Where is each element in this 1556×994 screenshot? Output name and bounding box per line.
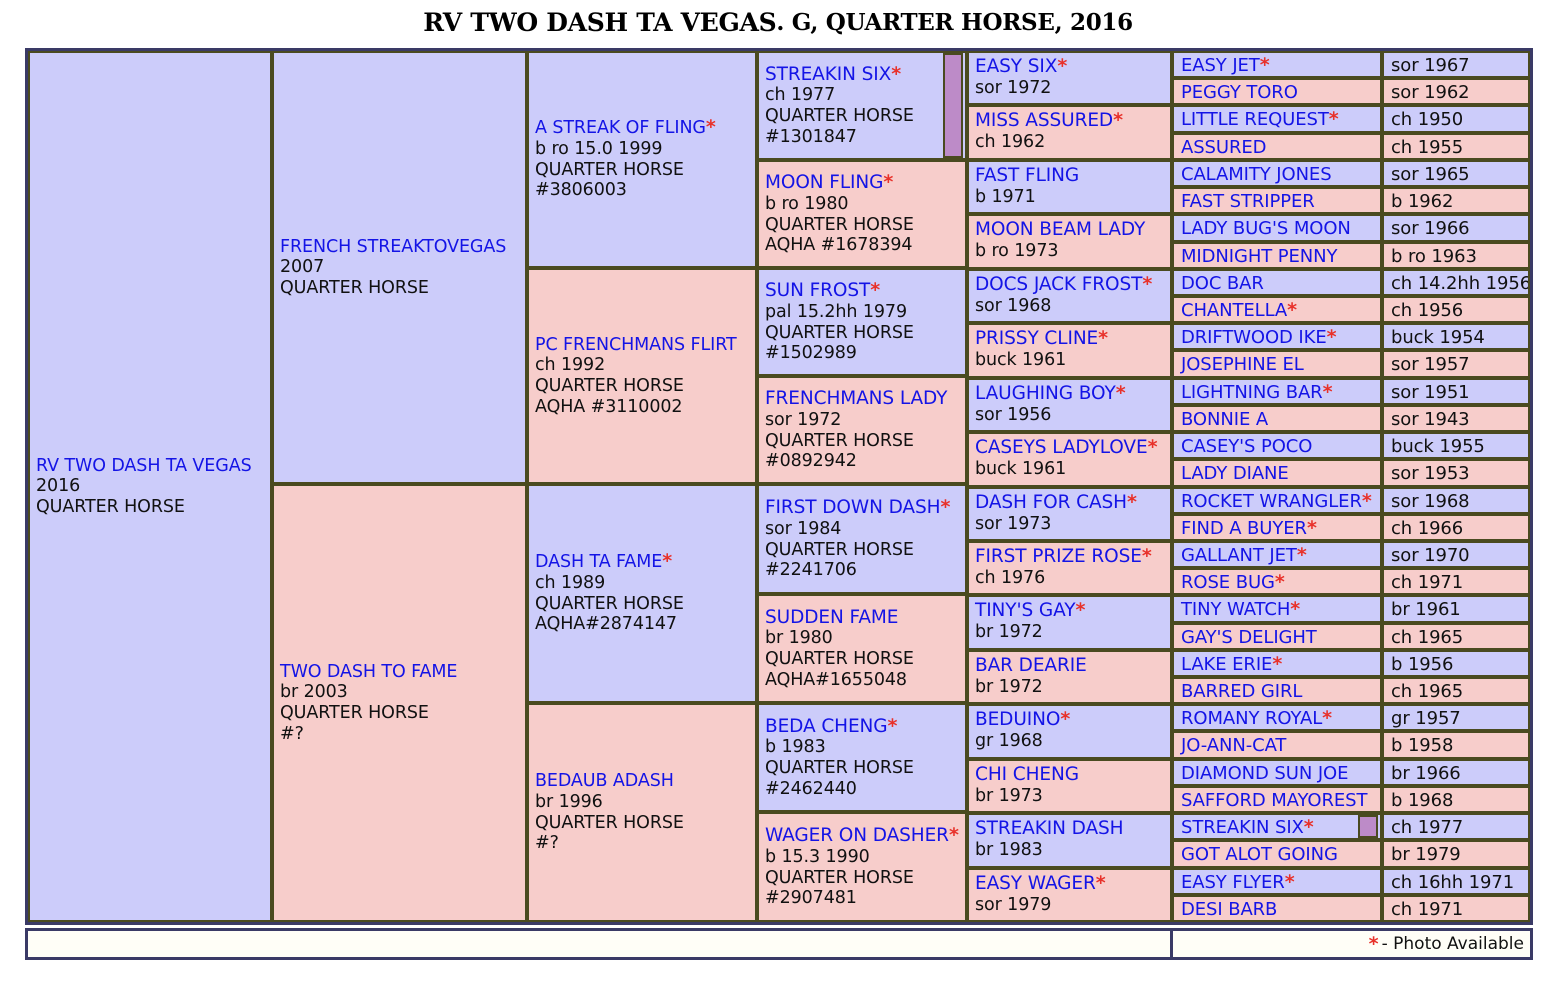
- pedigree-cell-gen6-date[interactable]: b 1968: [1382, 786, 1530, 813]
- horse-name[interactable]: STREAKIN DASH: [975, 818, 1170, 840]
- horse-detail: QUARTER HORSE: [765, 323, 965, 344]
- horse-detail: b ro 15.0 1999: [535, 139, 755, 160]
- duplicate-ancestor-marker: [1358, 815, 1378, 838]
- pedigree-cell-gen6-name[interactable]: SAFFORD MAYOREST: [1172, 786, 1382, 813]
- horse-name[interactable]: MIDNIGHT PENNY: [1181, 246, 1380, 267]
- page-title: RV TWO DASH TA VEGAS . G, QUARTER HORSE,…: [0, 0, 1556, 45]
- photo-available-star-icon: *: [1329, 108, 1339, 130]
- pedigree-cell-gen3[interactable]: DASH TA FAME*ch 1989QUARTER HORSEAQHA#28…: [527, 484, 757, 703]
- horse-name[interactable]: WAGER ON DASHER*: [765, 825, 965, 847]
- horse-detail: sor 1951: [1391, 382, 1528, 403]
- horse-name[interactable]: TINY WATCH*: [1181, 599, 1380, 620]
- photo-available-star-icon: *: [1323, 381, 1333, 403]
- pedigree-cell-gen6-date[interactable]: ch 14.2hh 1956: [1382, 269, 1530, 296]
- horse-detail: QUARTER HORSE: [765, 649, 965, 670]
- photo-legend-label: - Photo Available: [1382, 934, 1524, 954]
- photo-available-star-icon: *: [1362, 490, 1372, 512]
- pedigree-cell-gen5[interactable]: DASH FOR CASH*sor 1973: [967, 487, 1172, 541]
- horse-name[interactable]: SAFFORD MAYOREST: [1181, 790, 1380, 811]
- horse-detail: QUARTER HORSE: [765, 868, 965, 889]
- pedigree-cell-gen5[interactable]: BAR DEARIEbr 1972: [967, 650, 1172, 704]
- photo-available-star-icon: *: [1096, 872, 1106, 894]
- horse-detail: QUARTER HORSE: [765, 758, 965, 779]
- horse-name[interactable]: FIRST DOWN DASH*: [765, 497, 965, 519]
- pedigree-cell-gen6-date[interactable]: ch 1955: [1382, 133, 1530, 160]
- horse-name[interactable]: MISS ASSURED*: [975, 110, 1170, 132]
- page-title-rest: . G, QUARTER HORSE, 2016: [776, 9, 1132, 36]
- horse-name[interactable]: BAR DEARIE: [975, 655, 1170, 677]
- pedigree-cell-gen6-date[interactable]: sor 1943: [1382, 405, 1530, 432]
- pedigree-cell-gen6-name[interactable]: BONNIE A: [1172, 405, 1382, 432]
- horse-name[interactable]: ROSE BUG*: [1181, 572, 1380, 593]
- pedigree-cell-gen5[interactable]: CASEYS LADYLOVE*buck 1961: [967, 432, 1172, 487]
- pedigree-cell-gen6-name[interactable]: LAKE ERIE*: [1172, 650, 1382, 677]
- pedigree-cell-gen6-name[interactable]: LADY BUG'S MOON: [1172, 214, 1382, 242]
- horse-name[interactable]: LADY BUG'S MOON: [1181, 218, 1380, 239]
- horse-detail: #2462440: [765, 779, 965, 800]
- horse-detail: br 1966: [1391, 763, 1528, 784]
- horse-name[interactable]: A STREAK OF FLING*: [535, 118, 755, 139]
- horse-detail: b ro 1963: [1391, 246, 1528, 267]
- horse-detail: QUARTER HORSE: [765, 431, 965, 452]
- horse-name[interactable]: TWO DASH TO FAME: [280, 662, 525, 683]
- photo-available-star-icon: *: [1142, 273, 1152, 295]
- duplicate-ancestor-marker: [943, 53, 963, 158]
- photo-available-star-icon: *: [1272, 653, 1282, 675]
- photo-available-star-icon: *: [870, 279, 880, 301]
- horse-detail: sor 1962: [1391, 82, 1528, 103]
- pedigree-cell-gen6-name[interactable]: EASY JET*: [1172, 51, 1382, 78]
- pedigree-cell-gen6-date[interactable]: sor 1953: [1382, 459, 1530, 487]
- horse-detail: QUARTER HORSE: [36, 497, 270, 518]
- pedigree-cell-gen6-name[interactable]: JOSEPHINE EL: [1172, 350, 1382, 378]
- horse-detail: sor 1970: [1391, 545, 1528, 566]
- pedigree-cell-gen6-date[interactable]: sor 1968: [1382, 487, 1530, 514]
- horse-detail: ch 1966: [1391, 518, 1528, 539]
- horse-detail: #?: [535, 833, 755, 854]
- pedigree-cell-gen6-name[interactable]: DOC BAR: [1172, 269, 1382, 296]
- horse-detail: sor 1984: [765, 519, 965, 540]
- horse-name[interactable]: DRIFTWOOD IKE*: [1181, 327, 1380, 348]
- pedigree-page: RV TWO DASH TA VEGAS . G, QUARTER HORSE,…: [0, 0, 1556, 994]
- horse-name[interactable]: FAST FLING: [975, 165, 1170, 187]
- horse-detail: gr 1957: [1391, 708, 1528, 729]
- pedigree-cell-gen3[interactable]: BEDAUB ADASHbr 1996QUARTER HORSE#?: [527, 703, 757, 922]
- pedigree-cell-gen6-name[interactable]: DRIFTWOOD IKE*: [1172, 323, 1382, 350]
- pedigree-cell-gen5[interactable]: EASY SIX*sor 1972: [967, 51, 1172, 105]
- horse-name[interactable]: MOON FLING*: [765, 172, 965, 194]
- horse-name[interactable]: DESI BARB: [1181, 899, 1380, 920]
- pedigree-cell-gen6-name[interactable]: ROSE BUG*: [1172, 568, 1382, 595]
- horse-detail: AQHA#1655048: [765, 670, 965, 691]
- pedigree-cell-gen6-date[interactable]: ch 1971: [1382, 568, 1530, 595]
- horse-detail: b 1968: [1391, 790, 1528, 811]
- pedigree-cell-gen6-name[interactable]: LADY DIANE: [1172, 459, 1382, 487]
- photo-available-star-icon: *: [1148, 436, 1158, 458]
- pedigree-cell-gen6-name[interactable]: CALAMITY JONES: [1172, 160, 1382, 187]
- horse-name[interactable]: DOC BAR: [1181, 273, 1380, 294]
- horse-name[interactable]: PC FRENCHMANS FLIRT: [535, 335, 755, 356]
- horse-name[interactable]: ROMANY ROYAL*: [1181, 708, 1380, 729]
- horse-name[interactable]: GALLANT JET*: [1181, 545, 1380, 566]
- pedigree-cell-gen1[interactable]: RV TWO DASH TA VEGAS2016QUARTER HORSE: [28, 51, 272, 922]
- horse-detail: QUARTER HORSE: [280, 278, 525, 299]
- pedigree-cell-gen6-date[interactable]: sor 1966: [1382, 214, 1530, 242]
- horse-detail: br 2003: [280, 682, 525, 703]
- horse-name[interactable]: JOSEPHINE EL: [1181, 354, 1380, 375]
- pedigree-cell-gen6-name[interactable]: GAY'S DELIGHT: [1172, 623, 1382, 650]
- horse-detail: ch 1955: [1391, 137, 1528, 158]
- pedigree-cell-gen6-name[interactable]: ROCKET WRANGLER*: [1172, 487, 1382, 514]
- pedigree-cell-gen6-name[interactable]: LIGHTNING BAR*: [1172, 378, 1382, 405]
- horse-detail: sor 1979: [975, 895, 1170, 916]
- horse-detail: 2007: [280, 257, 525, 278]
- photo-available-star-icon: *: [1307, 517, 1317, 539]
- pedigree-cell-gen6-date[interactable]: ch 1977: [1382, 813, 1530, 840]
- pedigree-cell-gen6-date[interactable]: b 1956: [1382, 650, 1530, 677]
- pedigree-cell-gen3[interactable]: PC FRENCHMANS FLIRTch 1992QUARTER HORSEA…: [527, 268, 757, 484]
- horse-name[interactable]: MOON BEAM LADY: [975, 219, 1170, 241]
- photo-available-star-icon: *: [883, 171, 893, 193]
- pedigree-cell-gen6-date[interactable]: buck 1955: [1382, 432, 1530, 459]
- horse-detail: sor 1957: [1391, 354, 1528, 375]
- horse-name[interactable]: LIGHTNING BAR*: [1181, 382, 1380, 403]
- horse-detail: AQHA #3110002: [535, 397, 755, 418]
- photo-available-star-icon: *: [1297, 544, 1307, 566]
- horse-detail: ch 1971: [1391, 899, 1528, 920]
- pedigree-cell-gen2[interactable]: TWO DASH TO FAMEbr 2003QUARTER HORSE#?: [272, 484, 527, 922]
- horse-detail: b ro 1973: [975, 241, 1170, 262]
- horse-detail: #?: [280, 724, 525, 745]
- photo-available-star-icon: *: [1285, 871, 1295, 893]
- horse-detail: ch 1965: [1391, 627, 1528, 648]
- pedigree-cell-gen6-date[interactable]: ch 1966: [1382, 514, 1530, 541]
- horse-detail: b ro 1980: [765, 194, 965, 215]
- horse-detail: 2016: [36, 476, 270, 497]
- horse-detail: QUARTER HORSE: [765, 540, 965, 561]
- pedigree-cell-gen6-name[interactable]: BARRED GIRL: [1172, 677, 1382, 704]
- pedigree-cell-gen4[interactable]: BEDA CHENG*b 1983QUARTER HORSE#2462440: [757, 703, 967, 812]
- photo-available-star-icon: *: [662, 550, 672, 572]
- horse-detail: b 1958: [1391, 735, 1528, 756]
- horse-name[interactable]: CHI CHENG: [975, 764, 1170, 786]
- photo-available-star-icon: *: [1287, 299, 1297, 321]
- photo-available-star-icon: *: [888, 715, 898, 737]
- photo-available-star-icon: *: [1260, 54, 1270, 76]
- horse-detail: ch 1962: [975, 132, 1170, 153]
- pedigree-cell-gen6-name[interactable]: DIAMOND SUN JOE: [1172, 759, 1382, 786]
- horse-name[interactable]: FAST STRIPPER: [1181, 191, 1380, 212]
- horse-name[interactable]: PEGGY TORO: [1181, 82, 1380, 103]
- horse-name[interactable]: GAY'S DELIGHT: [1181, 627, 1380, 648]
- page-title-horse: RV TWO DASH TA VEGAS: [423, 8, 776, 37]
- horse-name[interactable]: DOCS JACK FROST*: [975, 274, 1170, 296]
- horse-detail: QUARTER HORSE: [535, 376, 755, 397]
- horse-detail: QUARTER HORSE: [535, 160, 755, 181]
- horse-name[interactable]: LADY DIANE: [1181, 463, 1380, 484]
- pedigree-cell-gen6-name[interactable]: JO-ANN-CAT: [1172, 731, 1382, 759]
- horse-name[interactable]: EASY WAGER*: [975, 873, 1170, 895]
- pedigree-cell-gen5[interactable]: EASY WAGER*sor 1979: [967, 868, 1172, 922]
- pedigree-cell-gen6-date[interactable]: br 1979: [1382, 840, 1530, 868]
- horse-name[interactable]: CALAMITY JONES: [1181, 164, 1380, 185]
- photo-available-star-icon: *: [1304, 816, 1314, 838]
- horse-detail: QUARTER HORSE: [765, 215, 965, 236]
- pedigree-cell-gen6-date[interactable]: sor 1965: [1382, 160, 1530, 187]
- horse-detail: b 1962: [1391, 191, 1528, 212]
- horse-detail: QUARTER HORSE: [535, 813, 755, 834]
- horse-detail: br 1972: [975, 677, 1170, 698]
- pedigree-cell-gen6-name[interactable]: GOT ALOT GOING: [1172, 840, 1382, 868]
- pedigree-cell-gen6-name[interactable]: MIDNIGHT PENNY: [1172, 242, 1382, 269]
- photo-legend: * - Photo Available: [1173, 931, 1530, 957]
- pedigree-cell-gen6-date[interactable]: sor 1951: [1382, 378, 1530, 405]
- pedigree-cell-gen5[interactable]: FIRST PRIZE ROSE*ch 1976: [967, 541, 1172, 595]
- horse-name[interactable]: RV TWO DASH TA VEGAS: [36, 456, 270, 477]
- pedigree-cell-gen5[interactable]: MISS ASSURED*ch 1962: [967, 105, 1172, 160]
- pedigree-cell-gen4[interactable]: FRENCHMANS LADYsor 1972QUARTER HORSE#089…: [757, 376, 967, 484]
- horse-detail: sor 1972: [765, 410, 965, 431]
- pedigree-cell-gen6-name[interactable]: ASSURED: [1172, 133, 1382, 160]
- horse-detail: sor 1943: [1391, 409, 1528, 430]
- horse-detail: QUARTER HORSE: [535, 594, 755, 615]
- photo-available-star-icon: *: [1275, 571, 1285, 593]
- horse-name[interactable]: SUN FROST*: [765, 280, 965, 302]
- horse-detail: b 1956: [1391, 654, 1528, 675]
- horse-detail: ch 14.2hh 1956: [1391, 273, 1528, 294]
- pedigree-cell-gen6-date[interactable]: b 1958: [1382, 731, 1530, 759]
- horse-name[interactable]: BARRED GIRL: [1181, 681, 1380, 702]
- photo-available-star-icon: *: [891, 63, 901, 85]
- horse-detail: ch 1977: [765, 85, 965, 106]
- horse-detail: ch 1956: [1391, 300, 1528, 321]
- horse-name[interactable]: BEDA CHENG*: [765, 716, 965, 738]
- horse-name[interactable]: FRENCHMANS LADY: [765, 388, 965, 410]
- pedigree-cell-gen6-date[interactable]: ch 1965: [1382, 623, 1530, 650]
- horse-detail: #1502989: [765, 343, 965, 364]
- pedigree-cell-gen2[interactable]: FRENCH STREAKTOVEGAS2007QUARTER HORSE: [272, 51, 527, 484]
- pedigree-cell-gen4[interactable]: SUN FROST*pal 15.2hh 1979QUARTER HORSE#1…: [757, 268, 967, 376]
- pedigree-cell-gen6-date[interactable]: sor 1970: [1382, 541, 1530, 568]
- horse-detail: ch 1976: [975, 568, 1170, 589]
- horse-name[interactable]: PRISSY CLINE*: [975, 328, 1170, 350]
- horse-detail: #3806003: [535, 180, 755, 201]
- horse-name[interactable]: FIND A BUYER*: [1181, 518, 1380, 539]
- photo-available-star-icon: *: [1075, 599, 1085, 621]
- pedigree-cell-gen6-date[interactable]: br 1961: [1382, 595, 1530, 623]
- horse-name[interactable]: DASH FOR CASH*: [975, 492, 1170, 514]
- pedigree-cell-gen6-name[interactable]: FAST STRIPPER: [1172, 187, 1382, 214]
- pedigree-cell-gen6-name[interactable]: CHANTELLA*: [1172, 296, 1382, 323]
- horse-detail: br 1983: [975, 840, 1170, 861]
- photo-available-star-icon: *: [949, 824, 959, 846]
- pedigree-cell-gen5[interactable]: TINY'S GAY*br 1972: [967, 595, 1172, 650]
- pedigree-cell-gen6-date[interactable]: b 1962: [1382, 187, 1530, 214]
- horse-detail: QUARTER HORSE: [280, 703, 525, 724]
- horse-detail: ch 1950: [1391, 109, 1528, 130]
- pedigree-cell-gen6-name[interactable]: DESI BARB: [1172, 895, 1382, 922]
- pedigree-cell-gen5[interactable]: DOCS JACK FROST*sor 1968: [967, 269, 1172, 323]
- pedigree-cell-gen6-date[interactable]: ch 1971: [1382, 895, 1530, 922]
- pedigree-cell-gen5[interactable]: PRISSY CLINE*buck 1961: [967, 323, 1172, 378]
- horse-detail: ch 1992: [535, 355, 755, 376]
- horse-detail: buck 1961: [975, 350, 1170, 371]
- horse-detail: sor 1953: [1391, 463, 1528, 484]
- horse-detail: b 1971: [975, 187, 1170, 208]
- pedigree-cell-gen6-name[interactable]: EASY FLYER*: [1172, 868, 1382, 895]
- photo-available-star-icon: *: [940, 496, 950, 518]
- horse-name[interactable]: STREAKIN SIX*: [1181, 817, 1380, 838]
- pedigree-cell-gen5[interactable]: BEDUINO*gr 1968: [967, 704, 1172, 759]
- pedigree-cell-gen4[interactable]: SUDDEN FAMEbr 1980QUARTER HORSEAQHA#1655…: [757, 594, 967, 703]
- pedigree-cell-gen6-date[interactable]: ch 16hh 1971: [1382, 868, 1530, 895]
- pedigree-cell-gen6-date[interactable]: buck 1954: [1382, 323, 1530, 350]
- pedigree-cell-gen3[interactable]: A STREAK OF FLING*b ro 15.0 1999QUARTER …: [527, 51, 757, 268]
- horse-detail: AQHA #1678394: [765, 235, 965, 256]
- horse-detail: buck 1961: [975, 459, 1170, 480]
- horse-detail: ch 1989: [535, 573, 755, 594]
- pedigree-cell-gen6-date[interactable]: ch 1950: [1382, 105, 1530, 133]
- pedigree-cell-gen6-name[interactable]: ROMANY ROYAL*: [1172, 704, 1382, 731]
- horse-detail: br 1972: [975, 622, 1170, 643]
- horse-name[interactable]: JO-ANN-CAT: [1181, 735, 1380, 756]
- horse-detail: #0892942: [765, 451, 965, 472]
- horse-detail: #2907481: [765, 888, 965, 909]
- horse-name[interactable]: TINY'S GAY*: [975, 600, 1170, 622]
- pedigree-cell-gen6-name[interactable]: CASEY'S POCO: [1172, 432, 1382, 459]
- pedigree-cell-gen6-name[interactable]: GALLANT JET*: [1172, 541, 1382, 568]
- photo-available-star-icon: *: [1290, 598, 1300, 620]
- pedigree-cell-gen4[interactable]: FIRST DOWN DASH*sor 1984QUARTER HORSE#22…: [757, 484, 967, 594]
- horse-detail: sor 1972: [975, 78, 1170, 99]
- horse-detail: QUARTER HORSE: [765, 106, 965, 127]
- photo-available-star-icon: *: [1113, 109, 1123, 131]
- horse-detail: sor 1967: [1391, 55, 1528, 76]
- horse-detail: sor 1968: [1391, 491, 1528, 512]
- horse-detail: sor 1965: [1391, 164, 1528, 185]
- pedigree-cell-gen4[interactable]: MOON FLING*b ro 1980QUARTER HORSEAQHA #1…: [757, 160, 967, 268]
- pedigree-cell-gen6-name[interactable]: FIND A BUYER*: [1172, 514, 1382, 541]
- photo-available-star-icon: *: [1322, 707, 1332, 729]
- horse-name[interactable]: DASH TA FAME*: [535, 552, 755, 573]
- horse-detail: sor 1973: [975, 514, 1170, 535]
- pedigree-cell-gen6-date[interactable]: b ro 1963: [1382, 242, 1530, 269]
- photo-available-star-icon: *: [1327, 326, 1337, 348]
- pedigree-cell-gen6-name[interactable]: LITTLE REQUEST*: [1172, 105, 1382, 133]
- horse-detail: #2241706: [765, 560, 965, 581]
- horse-name[interactable]: GOT ALOT GOING: [1181, 844, 1380, 865]
- horse-detail: ch 1971: [1391, 572, 1528, 593]
- horse-name[interactable]: FRENCH STREAKTOVEGAS: [280, 237, 525, 258]
- pedigree-cell-gen4[interactable]: STREAKIN SIX*ch 1977QUARTER HORSE#130184…: [757, 51, 967, 160]
- horse-detail: b 1983: [765, 737, 965, 758]
- horse-detail: ch 16hh 1971: [1391, 872, 1528, 893]
- horse-detail: ch 1965: [1391, 681, 1528, 702]
- horse-detail: #1301847: [765, 127, 965, 148]
- pedigree-cell-gen5[interactable]: STREAKIN DASHbr 1983: [967, 813, 1172, 868]
- horse-detail: sor 1968: [975, 296, 1170, 317]
- horse-name[interactable]: BEDAUB ADASH: [535, 771, 755, 792]
- horse-name[interactable]: LAKE ERIE*: [1181, 654, 1380, 675]
- horse-detail: AQHA#2874147: [535, 614, 755, 635]
- photo-available-star-icon: *: [1057, 55, 1067, 77]
- pedigree-cell-gen5[interactable]: MOON BEAM LADYb ro 1973: [967, 214, 1172, 269]
- pedigree-cell-gen6-date[interactable]: ch 1965: [1382, 677, 1530, 704]
- horse-name[interactable]: EASY FLYER*: [1181, 872, 1380, 893]
- horse-detail: br 1979: [1391, 844, 1528, 865]
- pedigree-footer: * - Photo Available: [25, 928, 1533, 960]
- horse-detail: ch 1977: [1391, 817, 1528, 838]
- horse-detail: br 1961: [1391, 599, 1528, 620]
- horse-detail: sor 1956: [975, 405, 1170, 426]
- horse-name[interactable]: LAUGHING BOY*: [975, 383, 1170, 405]
- photo-available-star-icon: *: [1142, 545, 1152, 567]
- horse-name[interactable]: BEDUINO*: [975, 709, 1170, 731]
- photo-available-star-icon: *: [706, 116, 716, 138]
- horse-detail: br 1980: [765, 628, 965, 649]
- horse-detail: buck 1955: [1391, 436, 1528, 457]
- photo-available-star-icon: *: [1098, 327, 1108, 349]
- photo-available-star-icon: *: [1060, 708, 1070, 730]
- pedigree-cell-gen6-name[interactable]: TINY WATCH*: [1172, 595, 1382, 623]
- pedigree-cell-gen6-date[interactable]: br 1966: [1382, 759, 1530, 786]
- horse-detail: b 15.3 1990: [765, 847, 965, 868]
- pedigree-cell-gen5[interactable]: CHI CHENGbr 1973: [967, 759, 1172, 813]
- pedigree-cell-gen6-name[interactable]: STREAKIN SIX*: [1172, 813, 1382, 840]
- pedigree-cell-gen6-date[interactable]: sor 1962: [1382, 78, 1530, 105]
- horse-name[interactable]: LITTLE REQUEST*: [1181, 109, 1380, 130]
- horse-detail: pal 15.2hh 1979: [765, 302, 965, 323]
- horse-name[interactable]: ROCKET WRANGLER*: [1181, 491, 1380, 512]
- footer-left-blank: [28, 931, 1173, 957]
- photo-available-star-icon: *: [1127, 491, 1137, 513]
- horse-name[interactable]: BONNIE A: [1181, 409, 1380, 430]
- pedigree-cell-gen6-date[interactable]: gr 1957: [1382, 704, 1530, 731]
- horse-name[interactable]: ASSURED: [1181, 137, 1380, 158]
- horse-name[interactable]: DIAMOND SUN JOE: [1181, 763, 1380, 784]
- horse-name[interactable]: CHANTELLA*: [1181, 300, 1380, 321]
- photo-available-star-icon: *: [1116, 382, 1126, 404]
- horse-name[interactable]: CASEY'S POCO: [1181, 436, 1380, 457]
- pedigree-cell-gen6-date[interactable]: sor 1957: [1382, 350, 1530, 378]
- horse-detail: buck 1954: [1391, 327, 1528, 348]
- horse-detail: br 1973: [975, 786, 1170, 807]
- pedigree-cell-gen6-date[interactable]: ch 1956: [1382, 296, 1530, 323]
- pedigree-cell-gen6-name[interactable]: PEGGY TORO: [1172, 78, 1382, 105]
- horse-name[interactable]: STREAKIN SIX*: [765, 64, 965, 86]
- horse-detail: sor 1966: [1391, 218, 1528, 239]
- horse-name[interactable]: SUDDEN FAME: [765, 607, 965, 629]
- pedigree-cell-gen5[interactable]: LAUGHING BOY*sor 1956: [967, 378, 1172, 432]
- horse-name[interactable]: EASY SIX*: [975, 56, 1170, 78]
- pedigree-cell-gen6-date[interactable]: sor 1967: [1382, 51, 1530, 78]
- pedigree-cell-gen5[interactable]: FAST FLINGb 1971: [967, 160, 1172, 214]
- horse-name[interactable]: CASEYS LADYLOVE*: [975, 437, 1170, 459]
- horse-detail: gr 1968: [975, 731, 1170, 752]
- horse-name[interactable]: FIRST PRIZE ROSE*: [975, 546, 1170, 568]
- horse-detail: br 1996: [535, 792, 755, 813]
- pedigree-cell-gen4[interactable]: WAGER ON DASHER*b 15.3 1990QUARTER HORSE…: [757, 812, 967, 922]
- horse-name[interactable]: EASY JET*: [1181, 55, 1380, 76]
